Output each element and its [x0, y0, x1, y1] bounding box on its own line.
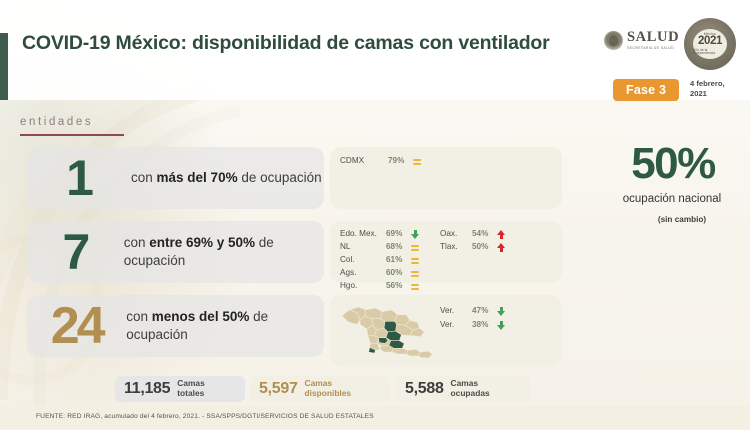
state-percent: 79%: [388, 157, 410, 165]
eagle-seal-icon: [604, 31, 623, 50]
stat-label-line2: ocupadas: [451, 389, 490, 399]
salud-logo-main: SALUD: [627, 30, 679, 45]
state-panel-medium: Edo. Mex. 69% NL 68% Col. 61% Ags. 60% H…: [330, 221, 562, 283]
state-row: NL 68%: [340, 243, 419, 252]
report-date-line1: 4 febrero,: [690, 79, 745, 89]
entity-count: 1: [27, 153, 131, 203]
state-percent: 68%: [386, 243, 408, 251]
entidades-underline: [20, 134, 124, 136]
title-accent-bar: [0, 33, 8, 100]
entity-card: 7 con entre 69% y 50% de ocupación: [27, 221, 324, 283]
state-percent: 50%: [472, 243, 494, 251]
trend-down-icon: [497, 321, 505, 330]
emblem-year: 2021: [698, 36, 722, 48]
infographic-canvas: COVID-19 México: disponibilidad de camas…: [0, 0, 750, 430]
entity-text-post: de ocupación: [238, 170, 322, 185]
stat-label-line2: disponibles: [305, 389, 352, 399]
state-percent: 61%: [386, 256, 408, 264]
state-percent: 47%: [472, 307, 494, 315]
entity-card: 1 con más del 70% de ocupación: [27, 147, 324, 209]
trend-flat-icon: [411, 256, 419, 265]
state-percent: 38%: [472, 321, 494, 329]
emblem-bottom-text: Año de la Independencia: [693, 49, 727, 55]
state-row: Hgo. 56%: [340, 282, 419, 291]
state-row: Oax. 54%: [440, 230, 505, 239]
state-column: Ver. 47% Ver. 38%: [440, 307, 505, 330]
stat-chip-camas-disponibles: 5,597 Camas disponibles: [250, 376, 390, 402]
entity-text-bold: más del 70%: [157, 170, 238, 185]
entity-text-pre: con: [124, 235, 150, 250]
salud-logo-text: SALUD SECRETARÍA DE SALUD: [627, 30, 679, 50]
trend-flat-icon: [411, 269, 419, 278]
state-name: CDMX: [340, 157, 388, 165]
entity-count: 24: [27, 300, 126, 352]
trend-flat-icon: [411, 243, 419, 252]
emblem-inner: México 2021 Año de la Independencia: [693, 29, 727, 59]
trend-flat-icon: [413, 157, 421, 166]
trend-flat-icon: [411, 282, 419, 291]
stat-chip-camas-ocupadas: 5,588 Camas ocupadas: [396, 376, 530, 402]
stat-label-line2: totales: [177, 389, 204, 399]
stat-value: 5,588: [405, 380, 444, 398]
entity-description: con más del 70% de ocupación: [131, 169, 322, 187]
state-row: Ags. 60%: [340, 269, 419, 278]
anio-2021-emblem: México 2021 Año de la Independencia: [684, 18, 736, 70]
trend-up-icon: [497, 230, 505, 239]
state-row: Col. 61%: [340, 256, 419, 265]
state-name: Tlax.: [440, 243, 472, 251]
entity-description: con entre 69% y 50% de ocupación: [124, 234, 324, 270]
report-date-line2: 2021: [690, 89, 745, 99]
entity-count: 7: [27, 227, 124, 277]
state-name: NL: [340, 243, 386, 251]
state-panel-low: Ver. 47% Ver. 38%: [330, 295, 562, 367]
state-name: Hgo.: [340, 282, 386, 290]
entidades-label: entidades: [20, 116, 93, 128]
state-column: CDMX 79%: [340, 157, 421, 170]
stat-chip-camas-totales: 11,185 Camas totales: [115, 376, 245, 402]
entity-text-bold: menos del 50%: [152, 309, 250, 324]
stat-label: Camas disponibles: [305, 379, 352, 399]
state-panel-high: CDMX 79%: [330, 147, 562, 209]
page-title: COVID-19 México: disponibilidad de camas…: [22, 32, 582, 55]
state-name: Ver.: [440, 321, 472, 329]
state-percent: 54%: [472, 230, 494, 238]
source-note: FUENTE: RED IRAG, acumulado del 4 febrer…: [36, 413, 374, 420]
state-column: Edo. Mex. 69% NL 68% Col. 61% Ags. 60% H…: [340, 230, 419, 291]
state-percent: 56%: [386, 282, 408, 290]
salud-logo-sub: SECRETARÍA DE SALUD: [627, 47, 679, 51]
state-row: Ver. 38%: [440, 321, 505, 330]
stat-value: 11,185: [124, 380, 170, 398]
stat-label: Camas totales: [177, 379, 204, 399]
salud-logo: SALUD SECRETARÍA DE SALUD: [604, 30, 679, 50]
entity-card: 24 con menos del 50% de ocupación: [27, 295, 324, 357]
state-percent: 60%: [386, 269, 408, 277]
state-row: Edo. Mex. 69%: [340, 230, 419, 239]
entity-description: con menos del 50% de ocupación: [126, 308, 324, 344]
state-row: Ver. 47%: [440, 307, 505, 316]
state-percent: 69%: [386, 230, 408, 238]
entity-text-bold: entre 69% y 50%: [149, 235, 255, 250]
phase-badge: Fase 3: [613, 79, 679, 101]
state-name: Ver.: [440, 307, 472, 315]
state-row: CDMX 79%: [340, 157, 421, 166]
state-name: Ags.: [340, 269, 386, 277]
mexico-map: [338, 302, 434, 360]
stat-label: Camas ocupadas: [451, 379, 490, 399]
report-date: 4 febrero, 2021: [690, 79, 745, 100]
state-name: Edo. Mex.: [340, 230, 386, 238]
entity-text-pre: con: [131, 170, 157, 185]
state-row: Tlax. 50%: [440, 243, 505, 252]
state-name: Oax.: [440, 230, 472, 238]
trend-down-icon: [497, 307, 505, 316]
stat-value: 5,597: [259, 380, 298, 398]
header-band: COVID-19 México: disponibilidad de camas…: [0, 0, 750, 100]
trend-down-icon: [411, 230, 419, 239]
national-occupancy-percent: 50%: [600, 142, 746, 186]
national-occupancy-note: (sin cambio): [612, 215, 750, 224]
state-name: Col.: [340, 256, 386, 264]
trend-up-icon: [497, 243, 505, 252]
national-occupancy-label: ocupación nacional: [592, 193, 750, 205]
entity-text-pre: con: [126, 309, 152, 324]
state-column: Oax. 54% Tlax. 50%: [440, 230, 505, 252]
